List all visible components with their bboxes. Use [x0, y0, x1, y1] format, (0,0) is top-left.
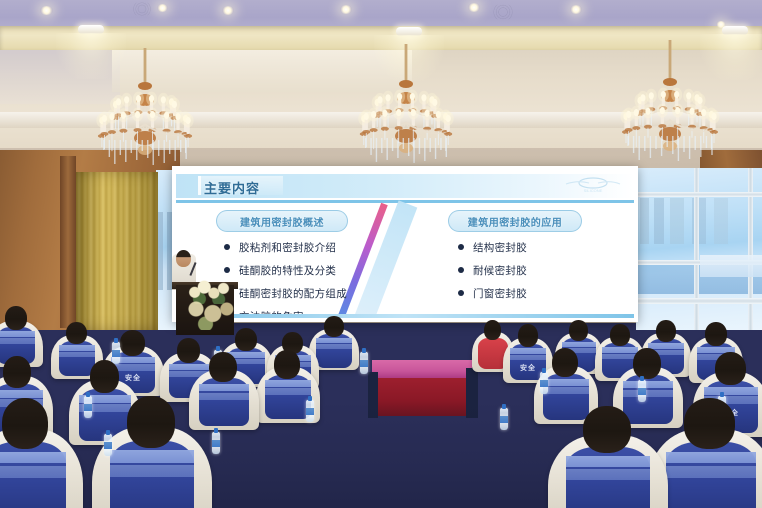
vest-reflective-stripe	[704, 387, 759, 395]
slide-right-bullet: 耐候密封胶	[458, 263, 527, 278]
water-bottle	[360, 352, 368, 374]
vest-reflective-stripe	[316, 344, 351, 349]
audience-head	[3, 356, 31, 388]
chandelier-right	[620, 40, 720, 170]
water-bottle	[104, 434, 112, 456]
slide-right-bullet: 结构密封胶	[458, 240, 527, 255]
slide-left-bullet: 硅酮胶的特性及分类	[224, 263, 347, 278]
vest-reflective-stripe	[0, 466, 66, 478]
vest-reflective-stripe	[199, 393, 248, 400]
vest-reflective-stripe	[59, 345, 96, 350]
conference-hall-photo: 主要内容 SILICONE 建筑用密封胶概述 胶粘剂和密封胶介绍硅酮胶的特性及分…	[0, 0, 762, 508]
curtain-gold-left	[76, 172, 158, 330]
audience-head	[66, 322, 87, 344]
water-bottle	[540, 372, 548, 394]
slide-left-bullets: 胶粘剂和密封胶介绍硅酮胶的特性及分类硅酮密封胶的配方组成充油胶的危害	[224, 240, 347, 318]
water-bottle	[638, 380, 646, 402]
wood-trim-left	[60, 156, 76, 328]
chandelier-left	[96, 48, 194, 174]
vest-reflective-stripe	[543, 379, 589, 386]
audience-head	[484, 320, 501, 340]
audience-safety-vest	[265, 375, 311, 420]
audience-head	[235, 328, 257, 351]
ceiling-downlight-icon	[340, 5, 352, 14]
slide-bottom-rule	[176, 314, 634, 318]
stage-side-left	[368, 372, 378, 418]
svg-text:SILICONE: SILICONE	[584, 188, 603, 193]
audience-safety-vest	[316, 334, 351, 367]
slide-title: 主要内容	[204, 178, 260, 197]
vest-reflective-stripe	[265, 388, 311, 395]
slide-left-bullet: 硅酮密封胶的配方组成	[224, 286, 347, 301]
slide-company-logo-icon: SILICONE	[562, 177, 624, 194]
audience-safety-vest	[110, 441, 194, 508]
audience-member	[314, 316, 354, 362]
audience-member	[104, 396, 200, 508]
window-mullion-h1	[636, 192, 762, 197]
presentation-slide: 主要内容 SILICONE 建筑用密封胶概述 胶粘剂和密封胶介绍硅酮胶的特性及分…	[176, 170, 634, 318]
chandelier-center	[358, 44, 454, 172]
audience-head	[583, 406, 631, 453]
audience-head	[656, 320, 676, 342]
audience-head	[552, 348, 578, 377]
audience-member	[660, 398, 762, 508]
vest-reflective-stripe	[0, 331, 35, 337]
ceiling-downlight-icon	[222, 6, 234, 15]
audience-head	[324, 316, 344, 337]
slide-right-heading: 建筑用密封胶的应用	[448, 210, 582, 232]
vest-reflective-stripe	[316, 338, 351, 343]
vest-reflective-stripe	[543, 387, 589, 394]
vest-reflective-stripe	[666, 452, 756, 464]
slide-right-bullets: 结构密封胶耐候密封胶门窗密封胶	[458, 240, 527, 309]
slide-right-bullet: 门窗密封胶	[458, 286, 527, 301]
water-bottle	[500, 408, 508, 430]
vest-reflective-stripe	[199, 384, 248, 391]
audience-head	[705, 322, 727, 346]
water-bottle	[212, 432, 220, 454]
vest-reflective-stripe	[562, 342, 595, 347]
soffit-spotlight-icon	[722, 26, 748, 35]
audience-head	[127, 396, 175, 448]
audience-safety-vest	[0, 442, 66, 508]
audience-member	[0, 398, 72, 508]
stage-skirt	[374, 378, 470, 416]
audience-head	[633, 348, 661, 379]
soffit-spotlight-icon	[78, 25, 104, 34]
audience-safety-vest	[199, 378, 248, 426]
ceiling-downlight-icon	[468, 3, 480, 12]
audience-head	[715, 352, 746, 385]
vest-reflective-stripe	[566, 456, 650, 467]
audience-head	[5, 306, 27, 330]
vest-reflective-stripe	[0, 390, 43, 398]
vest-reflective-stripe	[666, 466, 756, 478]
audience-member	[560, 406, 656, 508]
ceiling-downlight-icon	[570, 5, 582, 14]
audience-head	[274, 350, 300, 379]
audience-head	[209, 352, 237, 382]
speaker-head	[176, 250, 191, 267]
audience-safety-vest	[666, 442, 756, 508]
stage-table	[372, 360, 472, 380]
vest-reflective-stripe	[110, 450, 194, 462]
audience-member	[0, 306, 38, 358]
window-mullion-h3	[636, 298, 762, 304]
audience-head	[2, 398, 48, 449]
water-bottle	[84, 396, 92, 418]
audience-safety-vest	[566, 447, 650, 508]
vest-reflective-stripe	[623, 390, 672, 397]
ceiling-air-vent-icon	[490, 4, 516, 20]
vest-reflective-stripe	[0, 452, 66, 464]
vest-reflective-stripe	[623, 381, 672, 388]
vest-reflective-stripe	[265, 380, 311, 387]
audience-head	[90, 360, 119, 393]
projection-screen: 主要内容 SILICONE 建筑用密封胶概述 胶粘剂和密封胶介绍硅酮胶的特性及分…	[172, 166, 638, 322]
vest-reflective-stripe	[0, 338, 35, 344]
window-right	[636, 168, 762, 330]
vest-reflective-stripe	[110, 465, 194, 477]
audience-head	[518, 324, 538, 347]
soffit-spotlight-icon	[396, 27, 422, 36]
vest-reflective-stripe	[59, 352, 96, 357]
secondary-screen-right	[700, 255, 762, 277]
vest-reflective-stripe	[566, 469, 650, 480]
city-view-right	[640, 198, 728, 244]
audience-head	[684, 398, 735, 449]
audience-member	[196, 352, 252, 418]
audience-head	[569, 320, 588, 341]
water-bottle	[306, 400, 314, 422]
audience-head	[610, 324, 630, 346]
ceiling-downlight-icon	[157, 4, 168, 12]
slide-left-bullet: 胶粘剂和密封胶介绍	[224, 240, 347, 255]
flower-arrangement-lower	[182, 300, 238, 330]
slide-body: 建筑用密封胶概述 胶粘剂和密封胶介绍硅酮胶的特性及分类硅酮密封胶的配方组成充油胶…	[176, 200, 634, 318]
slide-left-heading: 建筑用密封胶概述	[216, 210, 348, 232]
stage-side-right	[466, 368, 478, 418]
audience-head	[120, 330, 145, 356]
